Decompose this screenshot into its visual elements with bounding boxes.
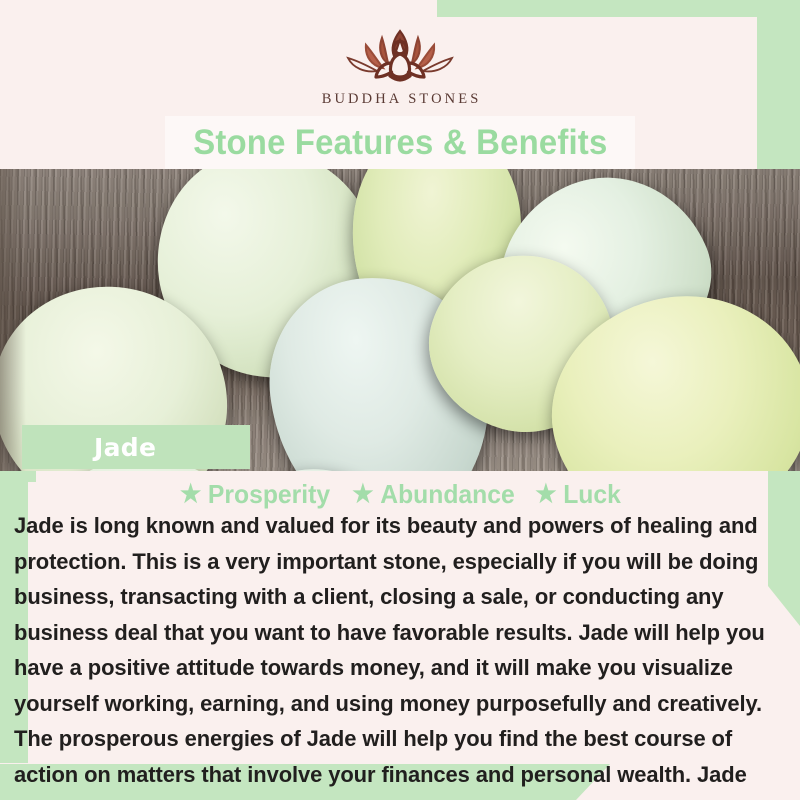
star-icon: ★ <box>180 482 201 507</box>
brand-header: BUDDHA STONES <box>0 17 800 115</box>
star-icon: ★ <box>536 482 557 507</box>
title-banner: Stone Features & Benefits <box>165 116 635 169</box>
brand-logo: BUDDHA STONES <box>319 25 482 108</box>
keyword-row: ★Prosperity ★Abundance ★Luck <box>0 477 800 511</box>
stone-name-label: Jade <box>94 433 156 462</box>
page-title: Stone Features & Benefits <box>193 123 607 163</box>
stone-description: Jade is long known and valued for its be… <box>14 508 780 800</box>
lotus-meditation-icon <box>336 25 464 87</box>
keyword-label: Abundance <box>381 479 515 510</box>
keyword-prosperity: ★Prosperity <box>180 479 330 510</box>
star-icon: ★ <box>353 482 374 507</box>
keyword-label: Luck <box>564 479 622 510</box>
keyword-label: Prosperity <box>208 479 330 510</box>
keyword-luck: ★Luck <box>536 479 622 510</box>
decor-green-top-band <box>437 0 800 17</box>
stone-name-bar: Jade <box>22 425 250 469</box>
keyword-abundance: ★Abundance <box>353 479 515 510</box>
brand-name: BUDDHA STONES <box>319 91 482 108</box>
infographic-page: BUDDHA STONES Stone Features & Benefits … <box>0 0 800 800</box>
